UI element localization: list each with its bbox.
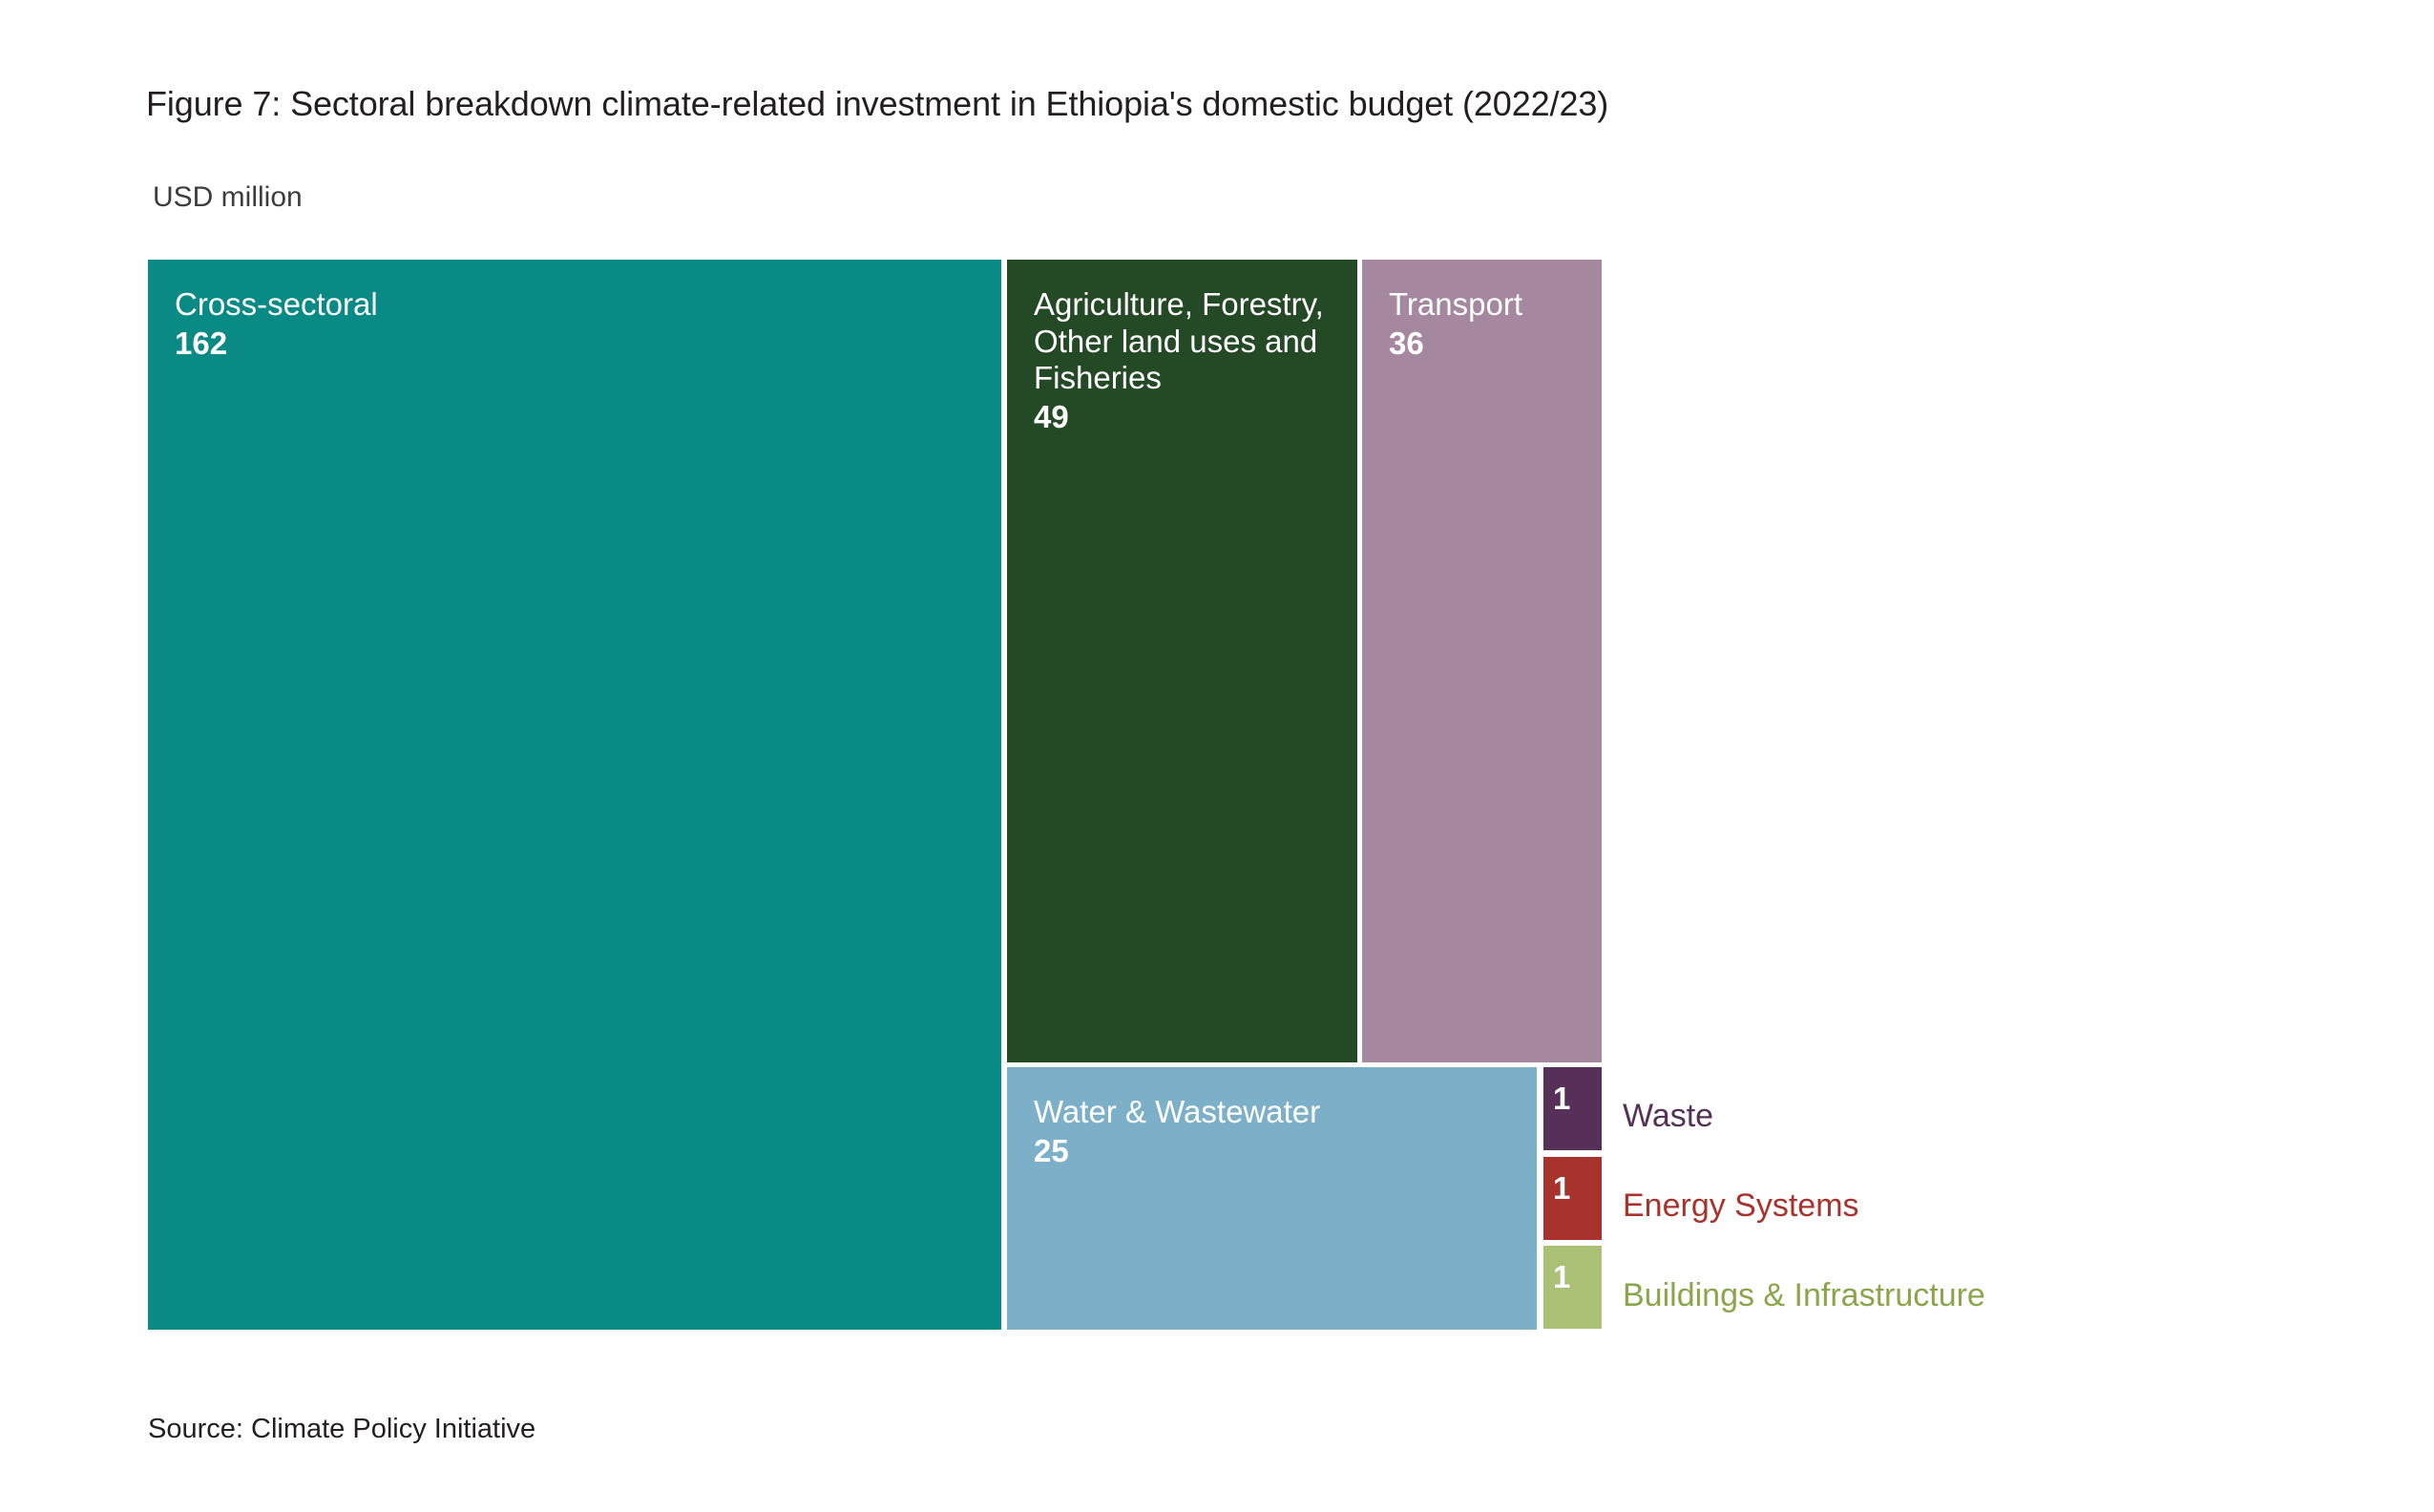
tile-value: 49 bbox=[1034, 399, 1339, 436]
tile-label: Transport bbox=[1389, 286, 1592, 324]
tile-label-group: Cross-sectoral 162 bbox=[175, 286, 992, 362]
treemap-tile-energy-systems[interactable]: 1 bbox=[1543, 1157, 1602, 1240]
tile-value: 36 bbox=[1389, 325, 1592, 363]
treemap-tile-waste[interactable]: 1 bbox=[1543, 1067, 1602, 1150]
tile-label: Agriculture, Forestry, Other land uses a… bbox=[1034, 286, 1339, 397]
tile-value: 1 bbox=[1553, 1261, 1570, 1292]
tile-label: Cross-sectoral bbox=[175, 286, 992, 324]
tile-value: 1 bbox=[1553, 1082, 1570, 1114]
tile-label: Water & Wastewater bbox=[1034, 1094, 1527, 1131]
treemap-tile-cross-sectoral[interactable]: Cross-sectoral 162 bbox=[148, 260, 1001, 1330]
treemap-tile-buildings-infrastructure[interactable]: 1 bbox=[1543, 1246, 1602, 1329]
treemap-tile-transport[interactable]: Transport 36 bbox=[1362, 260, 1602, 1062]
treemap-tile-water-wastewater[interactable]: Water & Wastewater 25 bbox=[1007, 1067, 1537, 1330]
tile-value: 162 bbox=[175, 325, 992, 363]
tile-label-group: Transport 36 bbox=[1389, 286, 1592, 362]
tile-value: 25 bbox=[1034, 1133, 1527, 1170]
tile-label-group: Water & Wastewater 25 bbox=[1034, 1094, 1527, 1169]
figure-source: Source: Climate Policy Initiative bbox=[148, 1414, 535, 1445]
treemap-external-label-buildings-infrastructure: Buildings & Infrastructure bbox=[1623, 1279, 1985, 1312]
figure-subtitle-units: USD million bbox=[153, 181, 303, 214]
treemap-external-label-energy-systems: Energy Systems bbox=[1623, 1189, 1859, 1222]
tile-value: 1 bbox=[1553, 1172, 1570, 1204]
treemap-chart: Cross-sectoral 162 Agriculture, Forestry… bbox=[148, 260, 1602, 1330]
treemap-external-label-waste: Waste bbox=[1623, 1100, 1713, 1132]
tile-label-group: Agriculture, Forestry, Other land uses a… bbox=[1034, 286, 1339, 435]
treemap-tile-agriculture-forestry-land-fisheries[interactable]: Agriculture, Forestry, Other land uses a… bbox=[1007, 260, 1357, 1062]
figure-container: Figure 7: Sectoral breakdown climate-rel… bbox=[0, 0, 2434, 1512]
figure-title: Figure 7: Sectoral breakdown climate-rel… bbox=[146, 84, 1608, 124]
